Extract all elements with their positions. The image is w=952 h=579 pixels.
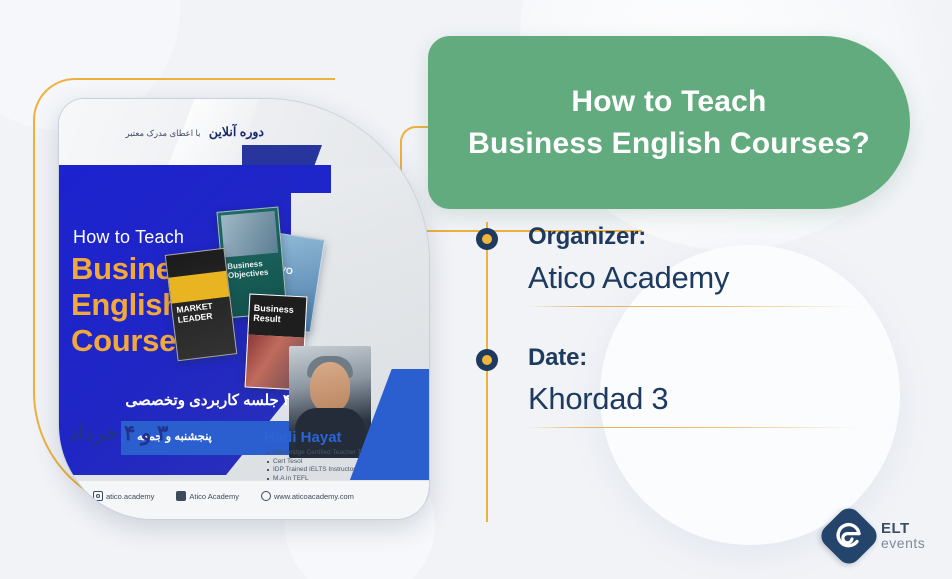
social-item-linkedin: Atico Academy (176, 491, 239, 501)
poster-title-small: How to Teach (73, 227, 184, 248)
instagram-icon (93, 491, 103, 501)
event-title-line-1: How to Teach (571, 81, 766, 123)
book-cover-market-leader: MARKET LEADER (165, 248, 238, 362)
social-handle: www.aticoacademy.com (274, 492, 354, 501)
book-cover-title: MARKET LEADER (176, 298, 232, 324)
social-handle: Atico Academy (189, 492, 239, 501)
detail-organizer: Organizer: Atico Academy (470, 222, 930, 307)
social-item-instagram: atico.academy (93, 491, 154, 501)
social-item-website: www.aticoacademy.com (261, 491, 354, 501)
event-title-line-2: Business English Courses? (468, 123, 870, 165)
book-cover-title: Business Objectives (227, 257, 283, 280)
poster-sessions-text: ۴ جلسه کاربردی وتخصصی (125, 391, 291, 409)
event-details-list: Organizer: Atico Academy Date: Khordad 3 (470, 222, 930, 428)
event-title-banner: How to Teach Business English Courses? (428, 36, 910, 209)
instructor-face (310, 362, 350, 412)
course-poster-image[interactable]: دوره آنلاین با اعطای مدرک معتبر How to T… (58, 98, 430, 520)
poster-footer-bar: ...463 atico.academy Atico Academy www.a… (59, 480, 429, 519)
poster-online-badge-sub: با اعطای مدرک معتبر (126, 128, 201, 138)
e-swirl-icon (816, 503, 881, 568)
bullet-icon (476, 228, 498, 250)
poster-online-badge: دوره آنلاین با اعطای مدرک معتبر (126, 124, 264, 139)
detail-divider (528, 427, 858, 428)
detail-label: Organizer: (528, 222, 930, 252)
poster-phone-fragment: ...463 (65, 492, 83, 499)
book-cover-title: Business Result (253, 303, 306, 326)
book-cover-image (221, 211, 278, 258)
detail-value: Khordad 3 (528, 377, 930, 421)
elt-events-logo[interactable]: ELT events (826, 513, 925, 559)
poster-online-badge-text: دوره آنلاین (209, 125, 264, 139)
logo-name-bottom: events (881, 536, 925, 551)
logo-name-top: ELT (881, 521, 925, 536)
detail-value: Atico Academy (528, 256, 930, 300)
detail-label: Date: (528, 343, 930, 373)
globe-icon (261, 491, 271, 501)
poster-canvas: دوره آنلاین با اعطای مدرک معتبر How to T… (0, 0, 952, 579)
linkedin-icon (176, 491, 186, 501)
detail-date: Date: Khordad 3 (470, 343, 930, 428)
e-swirl-glyph (835, 522, 863, 550)
instructor-name: Hadi Hayat (264, 429, 342, 446)
poster-date-text: ۳ و ۴ خرداد (69, 421, 168, 446)
detail-divider (528, 306, 858, 307)
social-handle: atico.academy (106, 492, 154, 501)
bullet-icon (476, 349, 498, 371)
poster-social-list: atico.academy Atico Academy www.aticoaca… (93, 491, 354, 501)
logo-wordmark: ELT events (881, 521, 925, 551)
